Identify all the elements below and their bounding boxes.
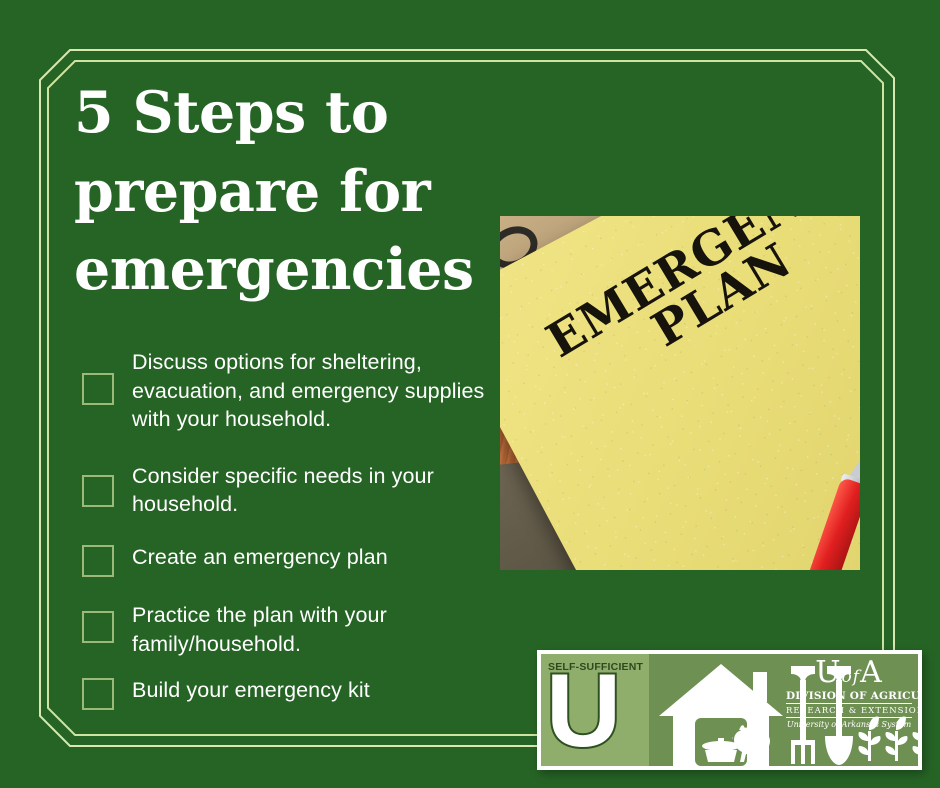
ua-division-of-agriculture-mark: UofA DIVISION OF AGRICULTURE RESEARCH & …: [786, 658, 912, 729]
checklist-item-label: Discuss options for sheltering, evacuati…: [132, 348, 502, 434]
checklist-item-label: Practice the plan with your family/house…: [132, 601, 502, 658]
checklist-item[interactable]: Build your emergency kit: [82, 676, 502, 710]
checkbox-icon[interactable]: [82, 611, 114, 643]
logo-letter-u: U: [546, 674, 621, 749]
page-title: 5 Steps to prepare for emergencies: [74, 74, 474, 310]
checklist-item-label: Consider specific needs in your househol…: [132, 462, 502, 519]
logo-right-panel: UofA DIVISION OF AGRICULTURE RESEARCH & …: [649, 654, 918, 766]
ua-monogram: UofA: [786, 658, 912, 688]
checkbox-icon[interactable]: [82, 373, 114, 405]
title-line-1: 5 Steps to: [74, 74, 474, 153]
emergency-plan-photo: EMERGENCY PLAN: [500, 216, 860, 570]
self-sufficient-u-logo: SELF-SUFFICIENT U: [537, 650, 922, 770]
ua-monogram-a: A: [860, 655, 883, 690]
ua-division-line: DIVISION OF AGRICULTURE: [786, 690, 912, 704]
poster-canvas: 5 Steps to prepare for emergencies Discu…: [0, 0, 940, 788]
checkbox-icon[interactable]: [82, 678, 114, 710]
title-line-3: emergencies: [74, 231, 474, 310]
ua-monogram-of: of: [842, 667, 861, 687]
checklist-item[interactable]: Create an emergency plan: [82, 543, 502, 577]
checklist-item-label: Create an emergency plan: [132, 543, 388, 572]
title-line-2: prepare for: [74, 153, 474, 232]
ua-monogram-u: U: [815, 655, 841, 690]
steps-checklist: Discuss options for sheltering, evacuati…: [82, 348, 502, 732]
checkbox-icon[interactable]: [82, 475, 114, 507]
checklist-item[interactable]: Discuss options for sheltering, evacuati…: [82, 348, 502, 434]
checklist-item[interactable]: Consider specific needs in your househol…: [82, 462, 502, 519]
ua-system-line: University of Arkansas System: [786, 720, 912, 729]
checklist-item[interactable]: Practice the plan with your family/house…: [82, 601, 502, 658]
checkbox-icon[interactable]: [82, 545, 114, 577]
logo-left-panel: SELF-SUFFICIENT U: [541, 654, 649, 766]
chicken-icon: [732, 724, 774, 764]
ua-research-line: RESEARCH & EXTENSION: [786, 706, 912, 718]
checklist-item-label: Build your emergency kit: [132, 676, 370, 705]
